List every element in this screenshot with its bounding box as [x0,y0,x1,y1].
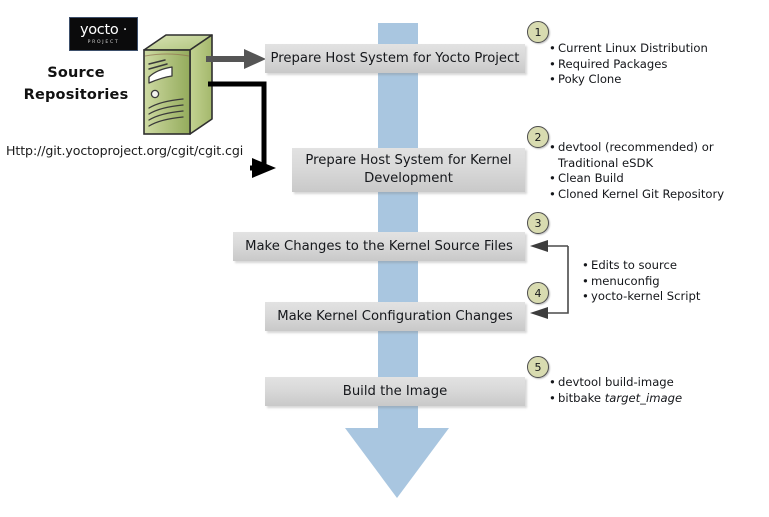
source-label-line1: Source [10,62,142,84]
list-item: • bitbake target_image [549,391,764,407]
step-number-1-value: 1 [535,26,542,39]
connector-bracket-steps-3-4 [522,236,574,322]
step-number-2-value: 2 [535,131,542,144]
list-item: • Clean Build [549,171,764,187]
list-item: • devtool (recommended) or Traditional e… [549,140,764,171]
list-item: • yocto-kernel Script [582,289,764,305]
steps-3-4-bullets: • Edits to source • menuconfig • yocto-k… [582,258,764,305]
bullet-glyph: • [549,171,558,187]
connector-server-to-step2 [206,80,278,178]
step-box-4[interactable]: Make Kernel Configuration Changes [265,302,525,331]
bullet-text-plain: bitbake [558,391,605,405]
bullet-glyph: • [549,41,558,57]
source-repositories-label: Source Repositories [10,62,142,106]
bullet-text: devtool build-image [558,375,764,391]
list-item: • Required Packages [549,57,764,73]
bullet-glyph: • [549,375,558,391]
step-number-3: 3 [527,212,549,234]
step-box-5[interactable]: Build the Image [265,377,525,406]
list-item: • devtool build-image [549,375,764,391]
bullet-text: Clean Build [558,171,764,187]
step-5-bullets: • devtool build-image • bitbake target_i… [549,375,764,406]
step-number-2: 2 [527,126,549,148]
list-item: • Poky Clone [549,72,764,88]
list-item: • Current Linux Distribution [549,41,764,57]
bullet-glyph: • [549,391,558,407]
step-box-3[interactable]: Make Changes to the Kernel Source Files [233,232,525,261]
yocto-logo-wordmark: yocto · [80,23,127,38]
step-box-5-label: Build the Image [343,383,447,401]
bullet-glyph: • [549,57,558,73]
bullet-text: Current Linux Distribution [558,41,764,57]
bullet-text: Edits to source [591,258,764,274]
list-item: • Cloned Kernel Git Repository [549,187,764,203]
bullet-text: menuconfig [591,274,764,290]
bullet-glyph: • [582,274,591,290]
bullet-glyph: • [549,187,558,203]
flow-arrow-shaft [378,23,418,433]
yocto-project-logo: yocto · PROJECT [69,17,138,51]
bullet-glyph: • [549,72,558,88]
step-number-5: 5 [527,356,549,378]
bullet-text: Poky Clone [558,72,764,88]
bullet-glyph: • [582,289,591,305]
list-item: • menuconfig [582,274,764,290]
step-number-5-value: 5 [535,361,542,374]
connector-server-to-step1 [206,46,270,72]
step-box-1[interactable]: Prepare Host System for Yocto Project [265,44,525,73]
server-tower-icon [136,32,214,144]
bullet-text: devtool (recommended) or Traditional eSD… [558,140,764,171]
bullet-text-italic: target_image [605,391,682,405]
flow-arrow-head [345,428,449,498]
step-1-bullets: • Current Linux Distribution • Required … [549,41,764,88]
bullet-glyph: • [582,258,591,274]
step-box-2[interactable]: Prepare Host System for Kernel Developme… [292,148,525,192]
source-label-line2: Repositories [10,84,142,106]
bullet-text: Cloned Kernel Git Repository [558,187,764,203]
diagram-canvas: yocto · PROJECT Source Repositories [0,0,769,517]
step-box-4-label: Make Kernel Configuration Changes [277,308,513,326]
step-number-3-value: 3 [535,217,542,230]
step-2-bullets: • devtool (recommended) or Traditional e… [549,140,764,202]
bullet-glyph: • [549,140,558,156]
step-box-3-label: Make Changes to the Kernel Source Files [245,238,513,256]
list-item: • Edits to source [582,258,764,274]
step-box-2-label: Prepare Host System for Kernel Developme… [292,152,525,188]
bullet-text: Required Packages [558,57,764,73]
step-number-1: 1 [527,21,549,43]
yocto-logo-subtext: PROJECT [88,39,120,46]
bullet-text: bitbake target_image [558,391,764,407]
bullet-text: yocto-kernel Script [591,289,764,305]
step-box-1-label: Prepare Host System for Yocto Project [271,50,520,68]
